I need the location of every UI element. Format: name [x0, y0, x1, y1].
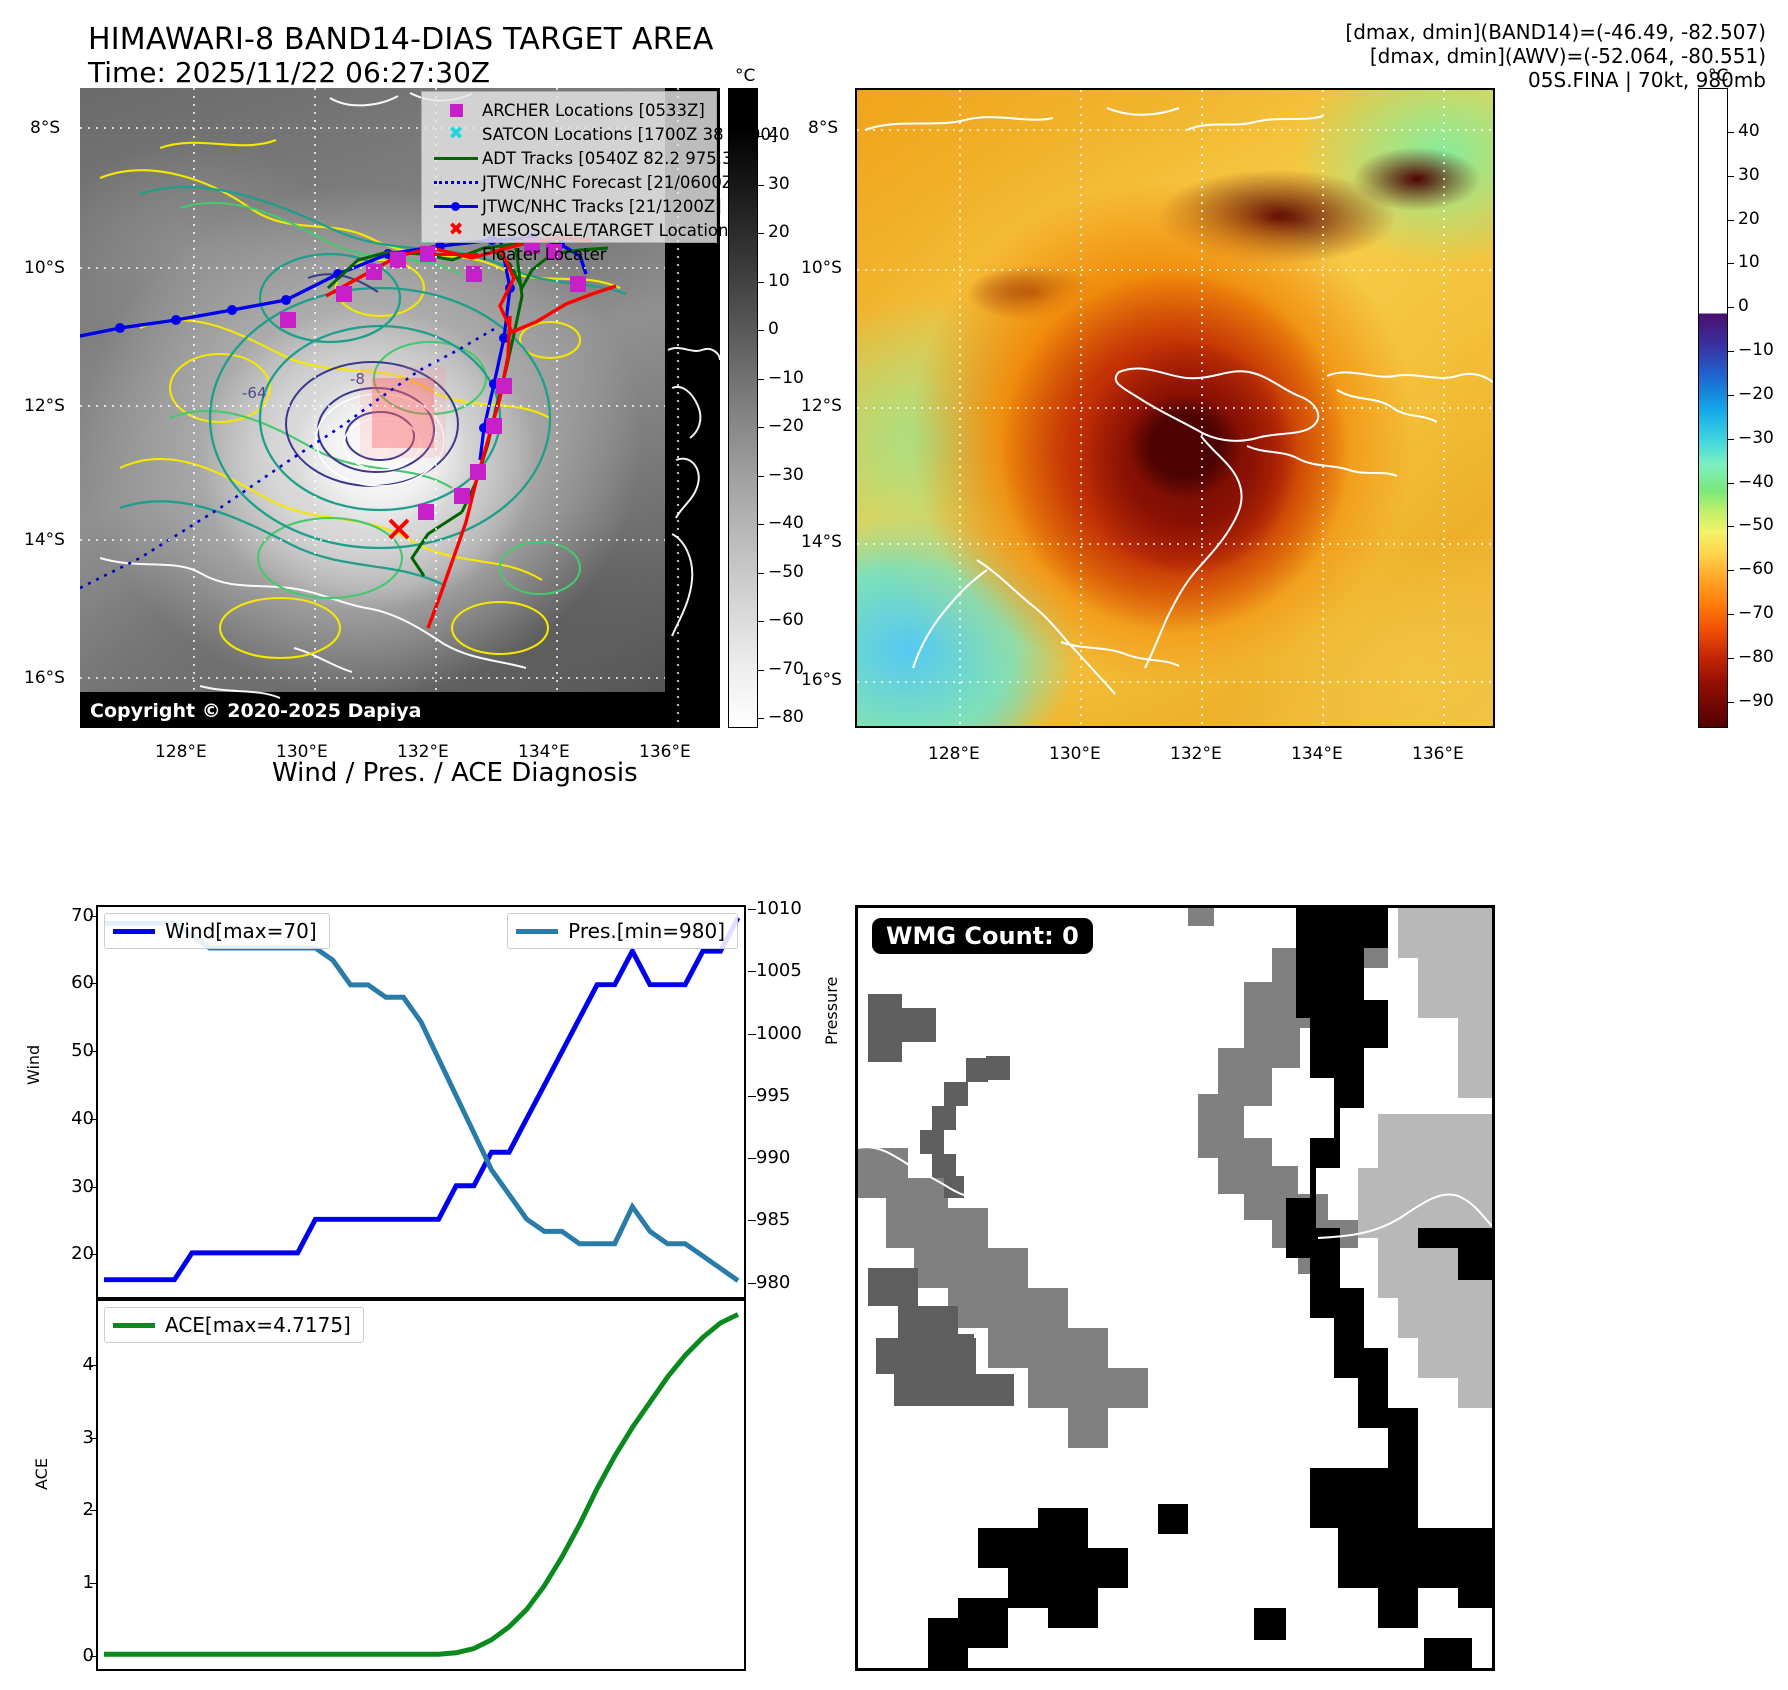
chart-y-tick: 2 [60, 1499, 94, 1520]
colorbar-tick-mark [1728, 702, 1734, 703]
svg-text:-64: -64 [242, 384, 267, 402]
chart-y-tick: 985 [756, 1209, 790, 1230]
blue-line-marker-icon [430, 202, 482, 210]
lat-lon-grid-color [857, 90, 1493, 726]
chart-y-tick: 1010 [756, 898, 802, 919]
chart-y-tick-mark [90, 1051, 98, 1052]
chart-y-tick: 1005 [756, 960, 802, 981]
chart-y-tick-mark [90, 1119, 98, 1120]
wind-legend[interactable]: Wind[max=70] [104, 913, 330, 949]
chart-y-tick: 0 [60, 1645, 94, 1666]
legend-item-mesoscale[interactable]: ✖ MESOSCALE/TARGET Location [430, 218, 708, 242]
colorbar-tick-mark [758, 379, 764, 380]
legend-label: JTWC/NHC Forecast [21/0600Z] [482, 173, 740, 192]
colorbar-tick-label: −40 [768, 513, 804, 533]
colorbar-tick-label: 0 [768, 319, 779, 339]
colorbar-tick-mark [758, 282, 764, 283]
colorbar-tick-label: −20 [768, 416, 804, 436]
wind-pressure-plot [98, 907, 744, 1297]
colorbar-tick-label: −50 [1738, 515, 1774, 535]
colorbar-tick-label: 30 [1738, 165, 1760, 185]
legend-label: ADT Tracks [0540Z 82.2 975.3] [482, 149, 739, 168]
ace-chart[interactable]: ACE[max=4.7175] [96, 1299, 746, 1671]
colorbar-tick-mark [1728, 483, 1734, 484]
p2-lat-tick-12s: 12°S [801, 396, 842, 416]
chart-y-tick: 50 [60, 1040, 94, 1061]
pressure-axis-title: Pressure [822, 977, 841, 1045]
colorbar-tick-mark [758, 185, 764, 186]
colorbar-tick-mark [1728, 614, 1734, 615]
chart-y-tick-mark [90, 1187, 98, 1188]
pressure-series-line [104, 923, 738, 1280]
chart-y-tick-mark [90, 1583, 98, 1584]
p2-lon-tick-134e: 134°E [1291, 744, 1343, 764]
p2-lon-tick-132e: 132°E [1170, 744, 1222, 764]
colorbar-tick-mark [758, 718, 764, 719]
colorbar-tick-label: −60 [1738, 559, 1774, 579]
chart-y-tick-mark [748, 1283, 756, 1284]
colorbar-tick-mark [1728, 263, 1734, 264]
colorbar-tick-label: 40 [1738, 121, 1760, 141]
colorbar-tick-label: 40 [768, 125, 790, 145]
wmg-count-badge: WMG Count: 0 [872, 918, 1093, 954]
ace-axis-title: ACE [32, 1458, 51, 1490]
magenta-square-marker-icon [430, 104, 482, 117]
chart-y-tick: 40 [60, 1108, 94, 1129]
colorbar-tick-mark [1728, 439, 1734, 440]
colorbar-tick-label: 10 [1738, 252, 1760, 272]
p2-colorbar-unit: °C [1708, 66, 1728, 86]
colorbar-tick-label: −90 [1738, 691, 1774, 711]
p2-lat-tick-8s: 8°S [808, 118, 838, 138]
chart-y-tick: 995 [756, 1085, 790, 1106]
colorbar-tick-label: −80 [1738, 647, 1774, 667]
red-x-marker-icon: ✖ [430, 221, 482, 239]
ace-legend[interactable]: ACE[max=4.7175] [104, 1307, 364, 1343]
p2-colorbar [1698, 88, 1728, 728]
diagnosis-title: Wind / Pres. / ACE Diagnosis [272, 758, 638, 788]
cyan-x-marker-icon: ✖ [430, 125, 482, 143]
chart-y-tick-mark [90, 983, 98, 984]
colorbar-tick-label: −30 [1738, 428, 1774, 448]
colorbar-tick-mark [1728, 132, 1734, 133]
ir-color-overlay [857, 90, 1493, 726]
colorbar-tick-label: −70 [1738, 603, 1774, 623]
colorbar-tick-label: −20 [1738, 384, 1774, 404]
colorbar-tick-label: 0 [1738, 296, 1749, 316]
p2-lon-tick-136e: 136°E [1412, 744, 1464, 764]
dashboard-root: HIMAWARI-8 BAND14-DIAS TARGET AREA Time:… [0, 0, 1788, 1690]
chart-y-tick: 1 [60, 1572, 94, 1593]
legend-label: JTWC/NHC Tracks [21/1200Z] [482, 197, 722, 216]
legend-item-jtwc-forecast[interactable]: JTWC/NHC Forecast [21/0600Z] [430, 170, 708, 194]
legend-item-floater[interactable]: Floater Locater [430, 242, 708, 266]
colorbar-tick-mark [758, 476, 764, 477]
chart-y-tick: 980 [756, 1272, 790, 1293]
colorbar-tick-mark [758, 670, 764, 671]
colorbar-tick-label: 20 [1738, 209, 1760, 229]
chart-y-tick: 990 [756, 1147, 790, 1168]
pressure-legend-swatch [516, 929, 558, 934]
legend-label: ARCHER Locations [0533Z] [482, 101, 705, 120]
colorbar-tick-mark [1728, 176, 1734, 177]
wmg-panel[interactable]: WMG Count: 0 [855, 905, 1495, 1671]
chart-y-tick-mark [90, 1438, 98, 1439]
legend-item-archer[interactable]: ARCHER Locations [0533Z] [430, 98, 708, 122]
wind-axis-title: Wind [24, 1045, 43, 1085]
colorbar-tick-mark [758, 427, 764, 428]
legend-item-satcon[interactable]: ✖ SATCON Locations [1700Z 38 1000] [430, 122, 708, 146]
chart-y-tick: 30 [60, 1176, 94, 1197]
wind-legend-swatch [113, 929, 155, 934]
target-location-marker [390, 520, 408, 538]
p2-lat-tick-10s: 10°S [801, 258, 842, 278]
colorbar-tick-label: −70 [768, 659, 804, 679]
p1-lat-tick-12s: 12°S [24, 396, 65, 416]
chart-y-tick-mark [748, 1220, 756, 1221]
ace-legend-label: ACE[max=4.7175] [165, 1313, 351, 1337]
colorbar-tick-label: −50 [768, 562, 804, 582]
chart-y-tick-mark [748, 971, 756, 972]
colorbar-tick-mark [1728, 570, 1734, 571]
meta-band14-range: [dmax, dmin](BAND14)=(-46.49, -82.507) [1345, 20, 1766, 44]
colorbar-tick-mark [1728, 658, 1734, 659]
p1-lat-tick-14s: 14°S [24, 530, 65, 550]
p1-colorbar [728, 88, 758, 728]
chart-y-tick-mark [90, 1656, 98, 1657]
colorbar-tick-mark [758, 524, 764, 525]
wind-pressure-chart[interactable]: Wind[max=70] Pres.[min=980] [96, 905, 746, 1299]
page-title: HIMAWARI-8 BAND14-DIAS TARGET AREA [88, 22, 714, 57]
colorbar-tick-label: 30 [768, 174, 790, 194]
colorbar-tick-label: −60 [768, 610, 804, 630]
chart-y-tick: 60 [60, 972, 94, 993]
wmg-map [858, 908, 1492, 1668]
p2-lon-tick-128e: 128°E [928, 744, 980, 764]
colorbar-tick-mark [1728, 220, 1734, 221]
ir-color-image [855, 88, 1495, 728]
colorbar-tick-label: −10 [768, 368, 804, 388]
chart-y-tick-mark [748, 1034, 756, 1035]
colorbar-tick-label: 10 [768, 271, 790, 291]
chart-y-tick-mark [90, 1365, 98, 1366]
page-timestamp: Time: 2025/11/22 06:27:30Z [88, 56, 490, 89]
chart-y-tick-mark [748, 1158, 756, 1159]
colorbar-tick-mark [758, 136, 764, 137]
colorbar-tick-label: −30 [768, 465, 804, 485]
chart-y-tick: 20 [60, 1243, 94, 1264]
ir-color-panel[interactable] [855, 88, 1495, 728]
chart-y-tick-mark [90, 916, 98, 917]
colorbar-tick-mark [1728, 307, 1734, 308]
red-line-icon [430, 253, 482, 256]
ace-plot [98, 1301, 744, 1669]
meta-storm-id: 05S.FINA | 70kt, 980mb [1528, 68, 1766, 92]
meta-awv-range: [dmax, dmin](AWV)=(-52.064, -80.551) [1370, 44, 1766, 68]
p1-colorbar-unit: °C [735, 66, 755, 86]
colorbar-tick-mark [758, 233, 764, 234]
colorbar-tick-label: −80 [768, 707, 804, 727]
legend-item-jtwc-tracks[interactable]: JTWC/NHC Tracks [21/1200Z] [430, 194, 708, 218]
colorbar-tick-mark [758, 330, 764, 331]
ace-series-line [104, 1314, 738, 1654]
p1-lon-tick-136e: 136°E [639, 742, 691, 762]
colorbar-tick-mark [1728, 395, 1734, 396]
legend-item-adt[interactable]: ADT Tracks [0540Z 82.2 975.3] [430, 146, 708, 170]
chart-y-tick: 4 [60, 1354, 94, 1375]
pressure-legend[interactable]: Pres.[min=980] [507, 913, 738, 949]
legend-label: MESOSCALE/TARGET Location [482, 221, 728, 240]
blue-dotted-line-icon [430, 181, 482, 184]
pressure-legend-label: Pres.[min=980] [568, 919, 725, 943]
colorbar-tick-label: −10 [1738, 340, 1774, 360]
p2-lat-tick-16s: 16°S [801, 670, 842, 690]
p1-lat-tick-16s: 16°S [24, 668, 65, 688]
colorbar-tick-label: −40 [1738, 472, 1774, 492]
colorbar-tick-mark [1728, 351, 1734, 352]
chart-y-tick-mark [748, 1096, 756, 1097]
ir-greyscale-panel[interactable]: -64 -8 [80, 88, 720, 728]
chart-y-tick-mark [90, 1510, 98, 1511]
colorbar-tick-mark [758, 573, 764, 574]
colorbar-tick-label: 20 [768, 222, 790, 242]
chart-y-tick: 3 [60, 1427, 94, 1448]
chart-y-tick: 70 [60, 905, 94, 926]
p2-lat-tick-14s: 14°S [801, 532, 842, 552]
p1-lon-tick-128e: 128°E [155, 742, 207, 762]
p1-lat-tick-10s: 10°S [24, 258, 65, 278]
green-line-icon [430, 157, 482, 160]
colorbar-tick-mark [1728, 526, 1734, 527]
chart-y-tick: 1000 [756, 1023, 802, 1044]
chart-y-tick-mark [90, 1254, 98, 1255]
legend-label: Floater Locater [482, 245, 607, 264]
chart-y-tick-mark [748, 909, 756, 910]
wind-legend-label: Wind[max=70] [165, 919, 317, 943]
copyright-notice: Copyright © 2020-2025 Dapiya [90, 700, 421, 722]
map-legend[interactable]: ARCHER Locations [0533Z] ✖ SATCON Locati… [421, 91, 717, 243]
colorbar-tick-mark [758, 621, 764, 622]
ace-legend-swatch [113, 1323, 155, 1328]
p1-lat-tick-8s: 8°S [30, 118, 60, 138]
p2-lon-tick-130e: 130°E [1049, 744, 1101, 764]
